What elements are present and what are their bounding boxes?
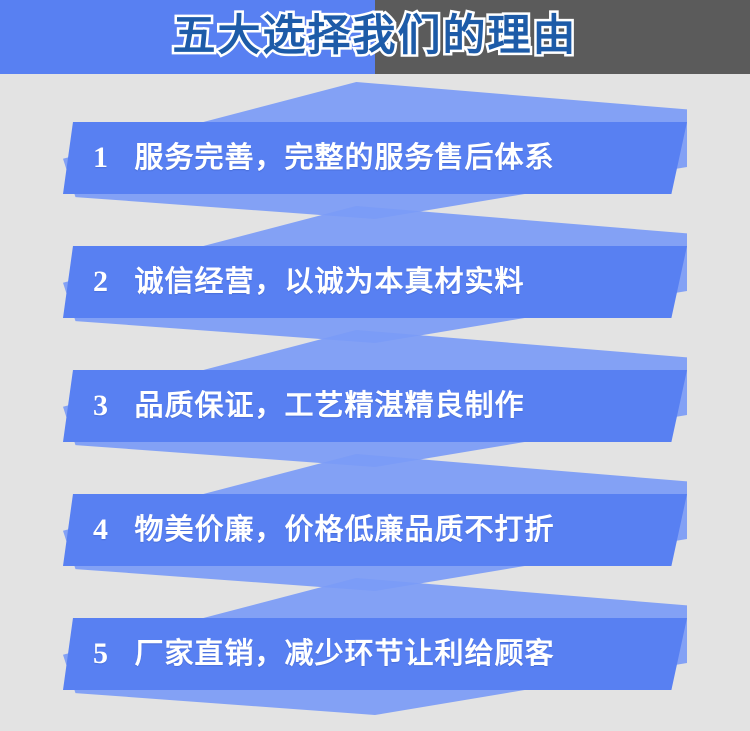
banner-text: 2 诚信经营，以诚为本真材实料 (63, 246, 687, 318)
banner-index: 1 (93, 123, 109, 193)
banner-label: 诚信经营，以诚为本真材实料 (134, 246, 524, 316)
banner-index: 3 (93, 371, 109, 441)
list-item[interactable]: 3 品质保证，工艺精湛精良制作 (63, 330, 687, 467)
banner-index: 4 (93, 495, 109, 565)
banner-label: 品质保证，工艺精湛精良制作 (134, 370, 524, 440)
banner-label: 厂家直销，减少环节让利给顾客 (134, 618, 554, 688)
banner-index: 2 (93, 247, 109, 317)
list-item[interactable]: 1 服务完善，完整的服务售后体系 (63, 82, 687, 219)
banner-text: 4 物美价廉，价格低廉品质不打折 (63, 494, 687, 566)
banner-label: 物美价廉，价格低廉品质不打折 (134, 494, 554, 564)
page-header: 五大选择我们的理由 (0, 0, 750, 74)
banner-text: 5 厂家直销，减少环节让利给顾客 (63, 618, 687, 690)
list-item[interactable]: 2 诚信经营，以诚为本真材实料 (63, 206, 687, 343)
page-title: 五大选择我们的理由 (0, 0, 750, 74)
banner-text: 3 品质保证，工艺精湛精良制作 (63, 370, 687, 442)
banner-label: 服务完善，完整的服务售后体系 (134, 122, 554, 192)
banner-text: 1 服务完善，完整的服务售后体系 (63, 122, 687, 194)
banner-index: 5 (93, 619, 109, 689)
list-item[interactable]: 5 厂家直销，减少环节让利给顾客 (63, 578, 687, 715)
reasons-list: 1 服务完善，完整的服务售后体系 2 诚信经营，以诚为本真材实料 3 品质保证，… (0, 74, 750, 731)
list-item[interactable]: 4 物美价廉，价格低廉品质不打折 (63, 454, 687, 591)
